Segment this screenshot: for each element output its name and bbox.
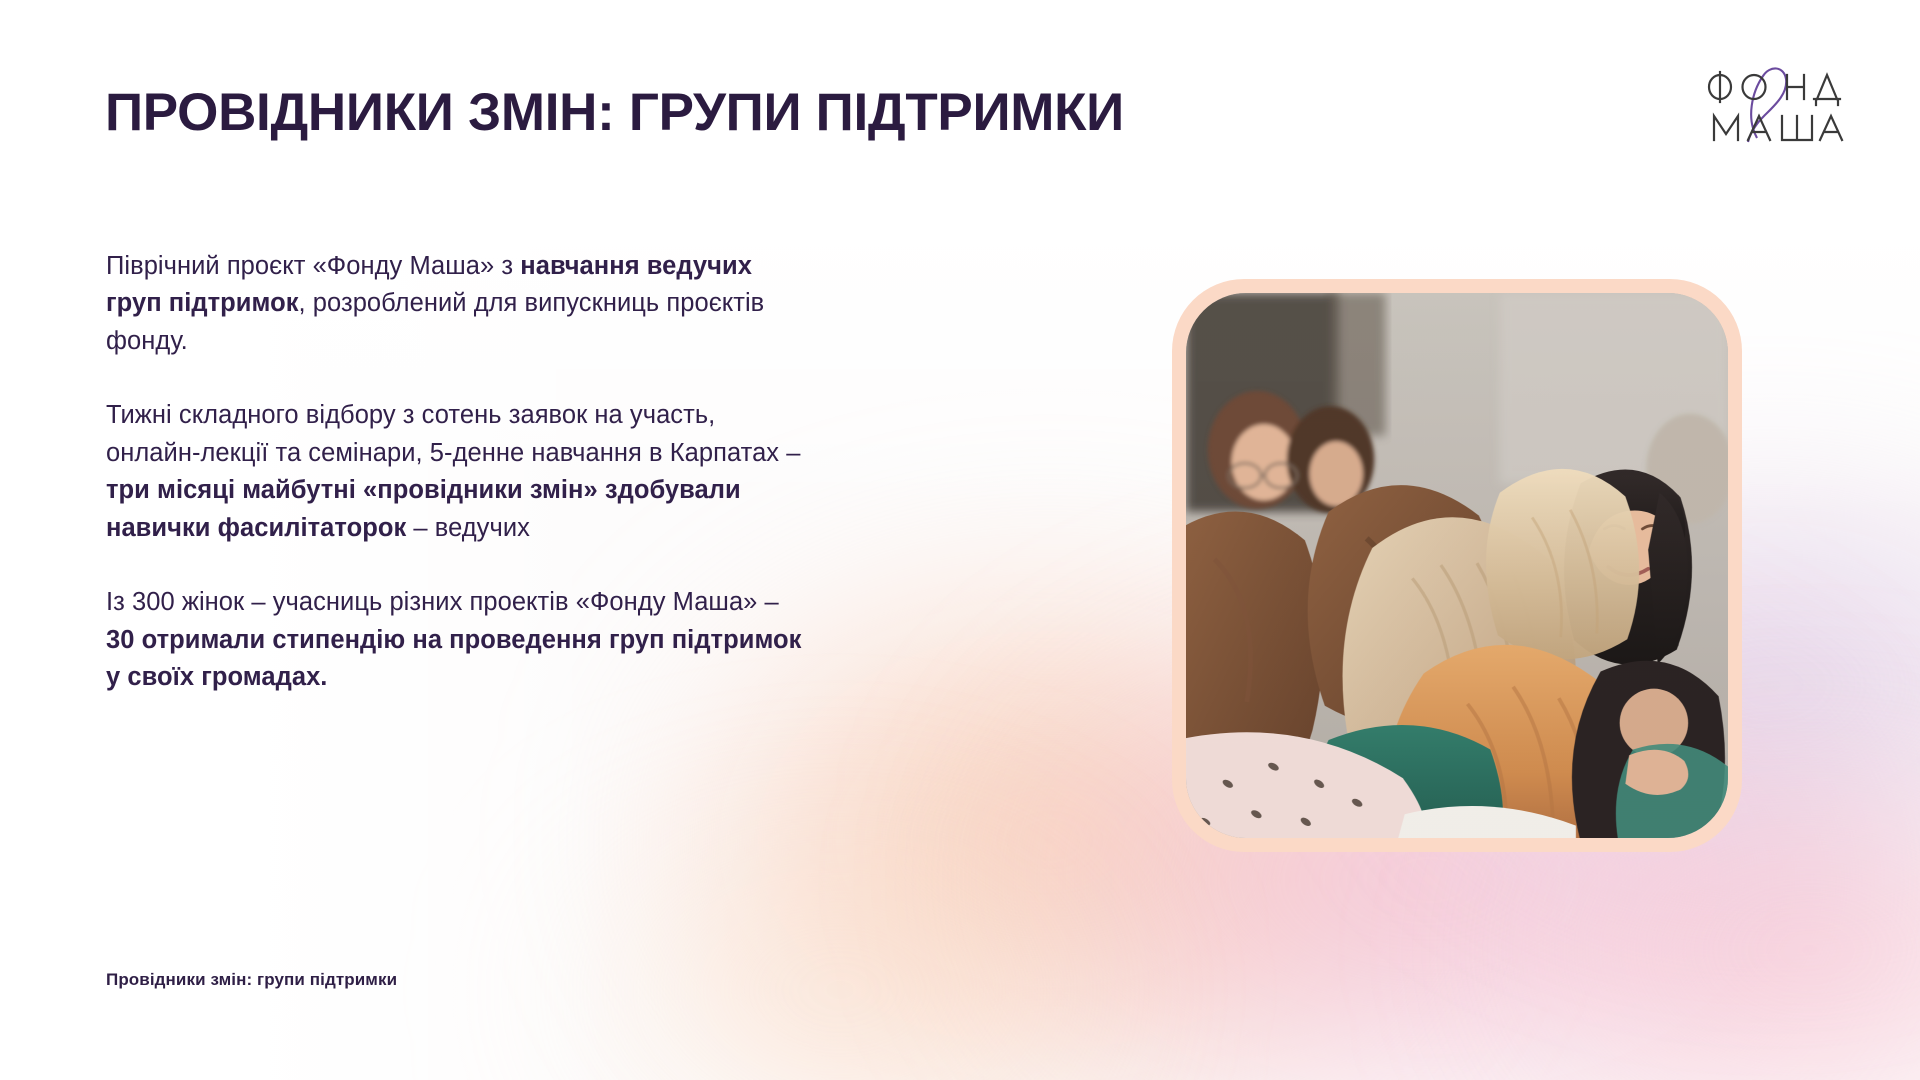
slide-title: ПРОВІДНИКИ ЗМІН: ГРУПИ ПІДТРИМКИ bbox=[105, 84, 1305, 141]
body-copy: Піврічний проєкт «Фонду Маша» з навчання… bbox=[106, 248, 806, 697]
text-run: Тижні складного відбору з сотень заявок … bbox=[106, 401, 800, 466]
footer-note: Провідники змін: групи підтримки bbox=[106, 970, 397, 990]
background-blob-cream bbox=[560, 830, 1120, 1080]
text-run: – ведучих bbox=[406, 514, 530, 542]
women-hugging-photo bbox=[1186, 293, 1728, 838]
text-run: Піврічний проєкт «Фонду Маша» з bbox=[106, 252, 520, 280]
photo-frame bbox=[1172, 279, 1742, 852]
paragraph-3: Із 300 жінок – учасниць різних проектів … bbox=[106, 584, 806, 696]
paragraph-2: Тижні складного відбору з сотень заявок … bbox=[106, 397, 806, 547]
brand-logo bbox=[1694, 52, 1844, 148]
text-run: Із 300 жінок – учасниць різних проектів … bbox=[106, 588, 779, 616]
slide-root: ПРОВІДНИКИ ЗМІН: ГРУПИ ПІДТРИМКИ Піврічн… bbox=[0, 0, 1920, 1080]
paragraph-1: Піврічний проєкт «Фонду Маша» з навчання… bbox=[106, 248, 806, 360]
text-run-bold: 30 отримали стипендію на проведення груп… bbox=[106, 626, 801, 691]
